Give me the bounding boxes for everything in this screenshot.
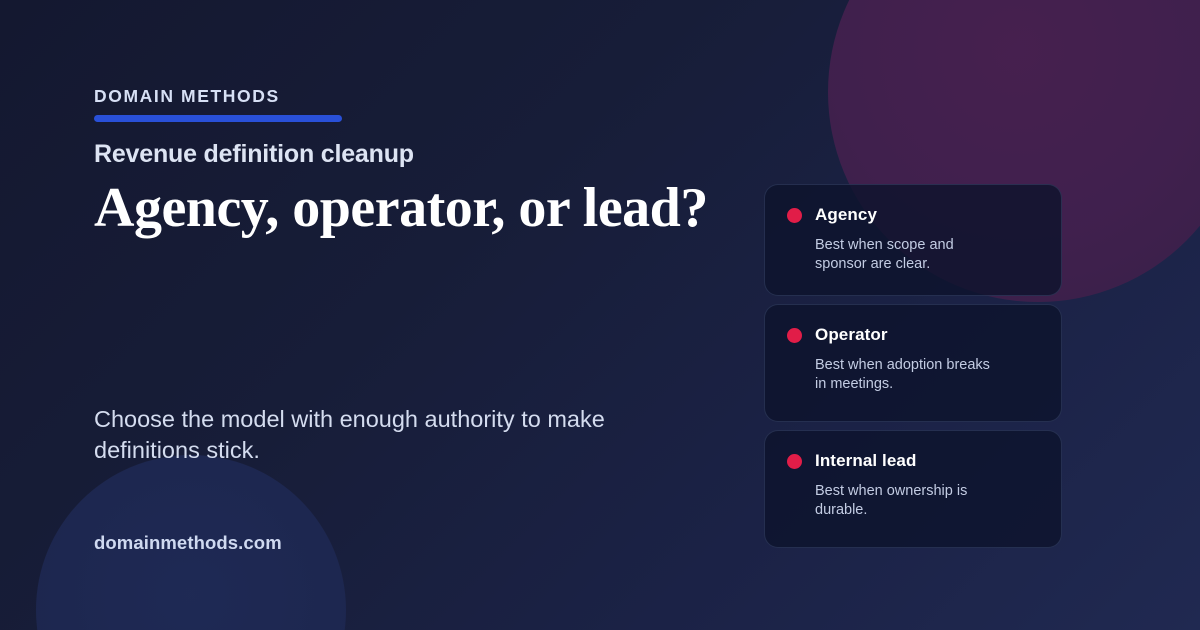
option-card-title: Internal lead [815, 451, 916, 471]
promo-card-canvas: DOMAIN METHODS Revenue definition cleanu… [0, 0, 1200, 630]
option-card-description: Best when ownership is durable. [815, 482, 990, 519]
left-content-column: DOMAIN METHODS Revenue definition cleanu… [94, 0, 754, 630]
bullet-dot-icon [787, 328, 802, 343]
subheading: Revenue definition cleanup [94, 140, 414, 169]
brand-eyebrow: DOMAIN METHODS [94, 86, 280, 107]
option-card-title: Agency [815, 205, 877, 225]
page-title: Agency, operator, or lead? [94, 178, 794, 238]
option-card-internal-lead[interactable]: Internal lead Best when ownership is dur… [764, 430, 1062, 548]
body-copy: Choose the model with enough authority t… [94, 404, 714, 467]
site-url-link[interactable]: domainmethods.com [94, 532, 282, 554]
accent-bar [94, 115, 342, 122]
bullet-dot-icon [787, 454, 802, 469]
option-card-header: Agency [787, 205, 1039, 225]
option-card-agency[interactable]: Agency Best when scope and sponsor are c… [764, 184, 1062, 296]
option-card-operator[interactable]: Operator Best when adoption breaks in me… [764, 304, 1062, 422]
option-card-header: Operator [787, 325, 1039, 345]
option-card-description: Best when scope and sponsor are clear. [815, 236, 990, 273]
option-card-list: Agency Best when scope and sponsor are c… [764, 184, 1062, 548]
bullet-dot-icon [787, 208, 802, 223]
option-card-description: Best when adoption breaks in meetings. [815, 356, 990, 393]
option-card-title: Operator [815, 325, 888, 345]
option-card-header: Internal lead [787, 451, 1039, 471]
